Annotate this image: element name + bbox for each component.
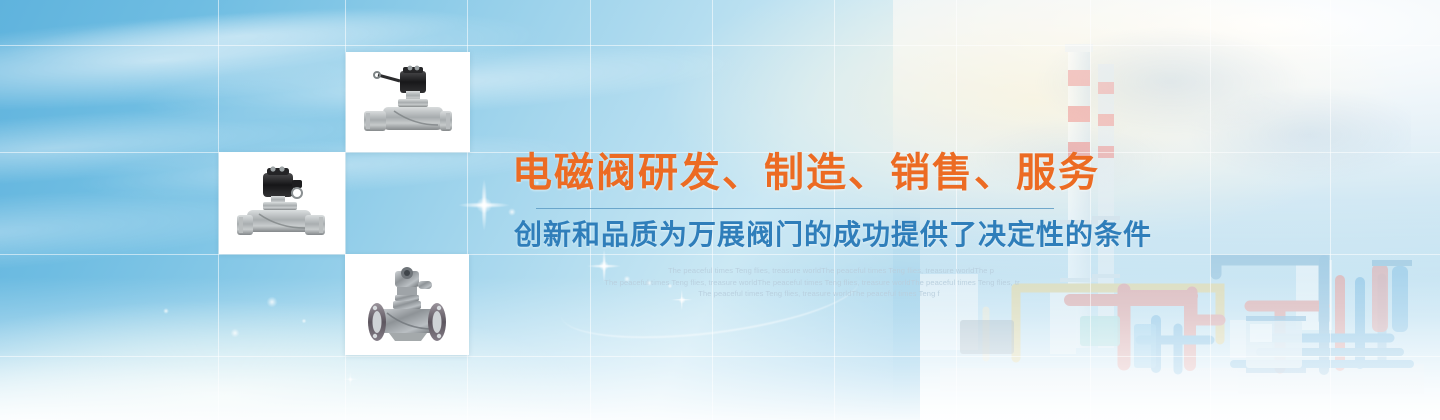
product-tile-3[interactable] bbox=[345, 254, 469, 355]
banner-copy: 电磁阀研发、制造、销售、服务 创新和品质为万展阀门的成功提供了决定性的条件 Th… bbox=[512, 148, 1112, 300]
valve-threaded-icon bbox=[235, 163, 329, 243]
banner-blurb: The peaceful times Teng flies, treasure … bbox=[512, 265, 1112, 300]
product-tile-1[interactable] bbox=[346, 52, 470, 152]
blurb-line-1: The peaceful times Teng flies, treasure … bbox=[512, 265, 1112, 277]
blurb-line-3: The peaceful times Teng flies, treasure … bbox=[512, 288, 1112, 300]
valve-flanged-icon bbox=[361, 265, 453, 345]
hero-banner: 电磁阀研发、制造、销售、服务 创新和品质为万展阀门的成功提供了决定性的条件 Th… bbox=[0, 0, 1440, 420]
valve-threaded-icon bbox=[362, 63, 454, 141]
headline-divider bbox=[536, 208, 1054, 209]
product-tile-2[interactable] bbox=[219, 152, 345, 254]
blurb-line-2: The peaceful times Teng flies, treasure … bbox=[512, 277, 1112, 289]
banner-subheadline: 创新和品质为万展阀门的成功提供了决定性的条件 bbox=[514, 217, 1112, 253]
banner-headline: 电磁阀研发、制造、销售、服务 bbox=[512, 148, 1112, 198]
